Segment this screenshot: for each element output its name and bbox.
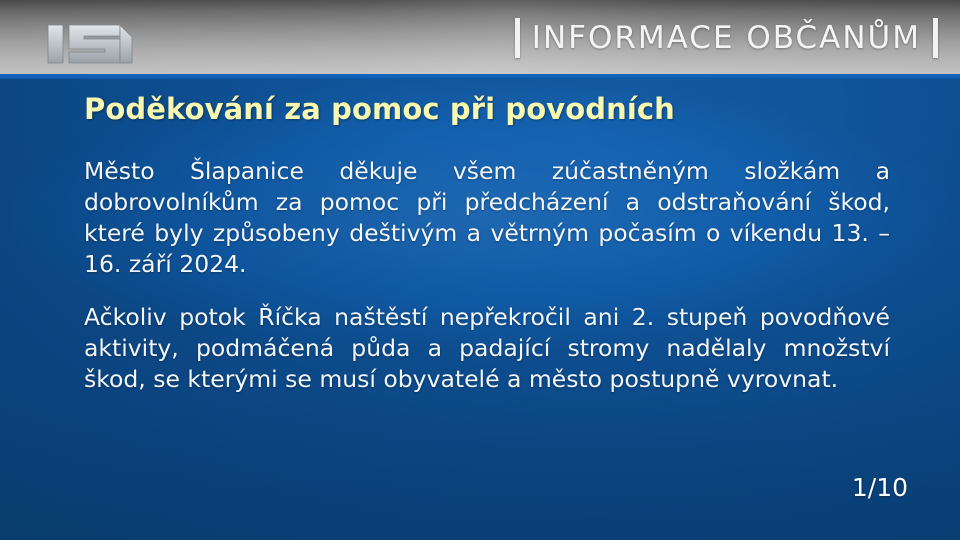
slide-container: INFORMACE OBČANŮM Poděkování za pomoc př… <box>0 0 960 540</box>
is-logo-icon <box>46 22 138 66</box>
slide-body: Město Šlapanice děkuje všem zúčastněným … <box>84 156 890 395</box>
background-bottom-fade <box>0 390 960 540</box>
body-paragraph-1: Město Šlapanice děkuje všem zúčastněným … <box>84 156 890 280</box>
header-title: INFORMACE OBČANŮM <box>515 16 938 60</box>
page-counter: 1/10 <box>852 473 908 502</box>
slide-title: Poděkování za pomoc při povodních <box>84 92 884 126</box>
body-paragraph-2: Ačkoliv potok Říčka naštěstí nepřekročil… <box>84 302 890 395</box>
header-left-bar-icon <box>515 18 520 58</box>
header-title-text: INFORMACE OBČANŮM <box>532 20 921 56</box>
header-bar: INFORMACE OBČANŮM <box>0 0 960 74</box>
header-right-bar-icon <box>933 18 938 58</box>
header-accent-underline <box>0 74 960 79</box>
